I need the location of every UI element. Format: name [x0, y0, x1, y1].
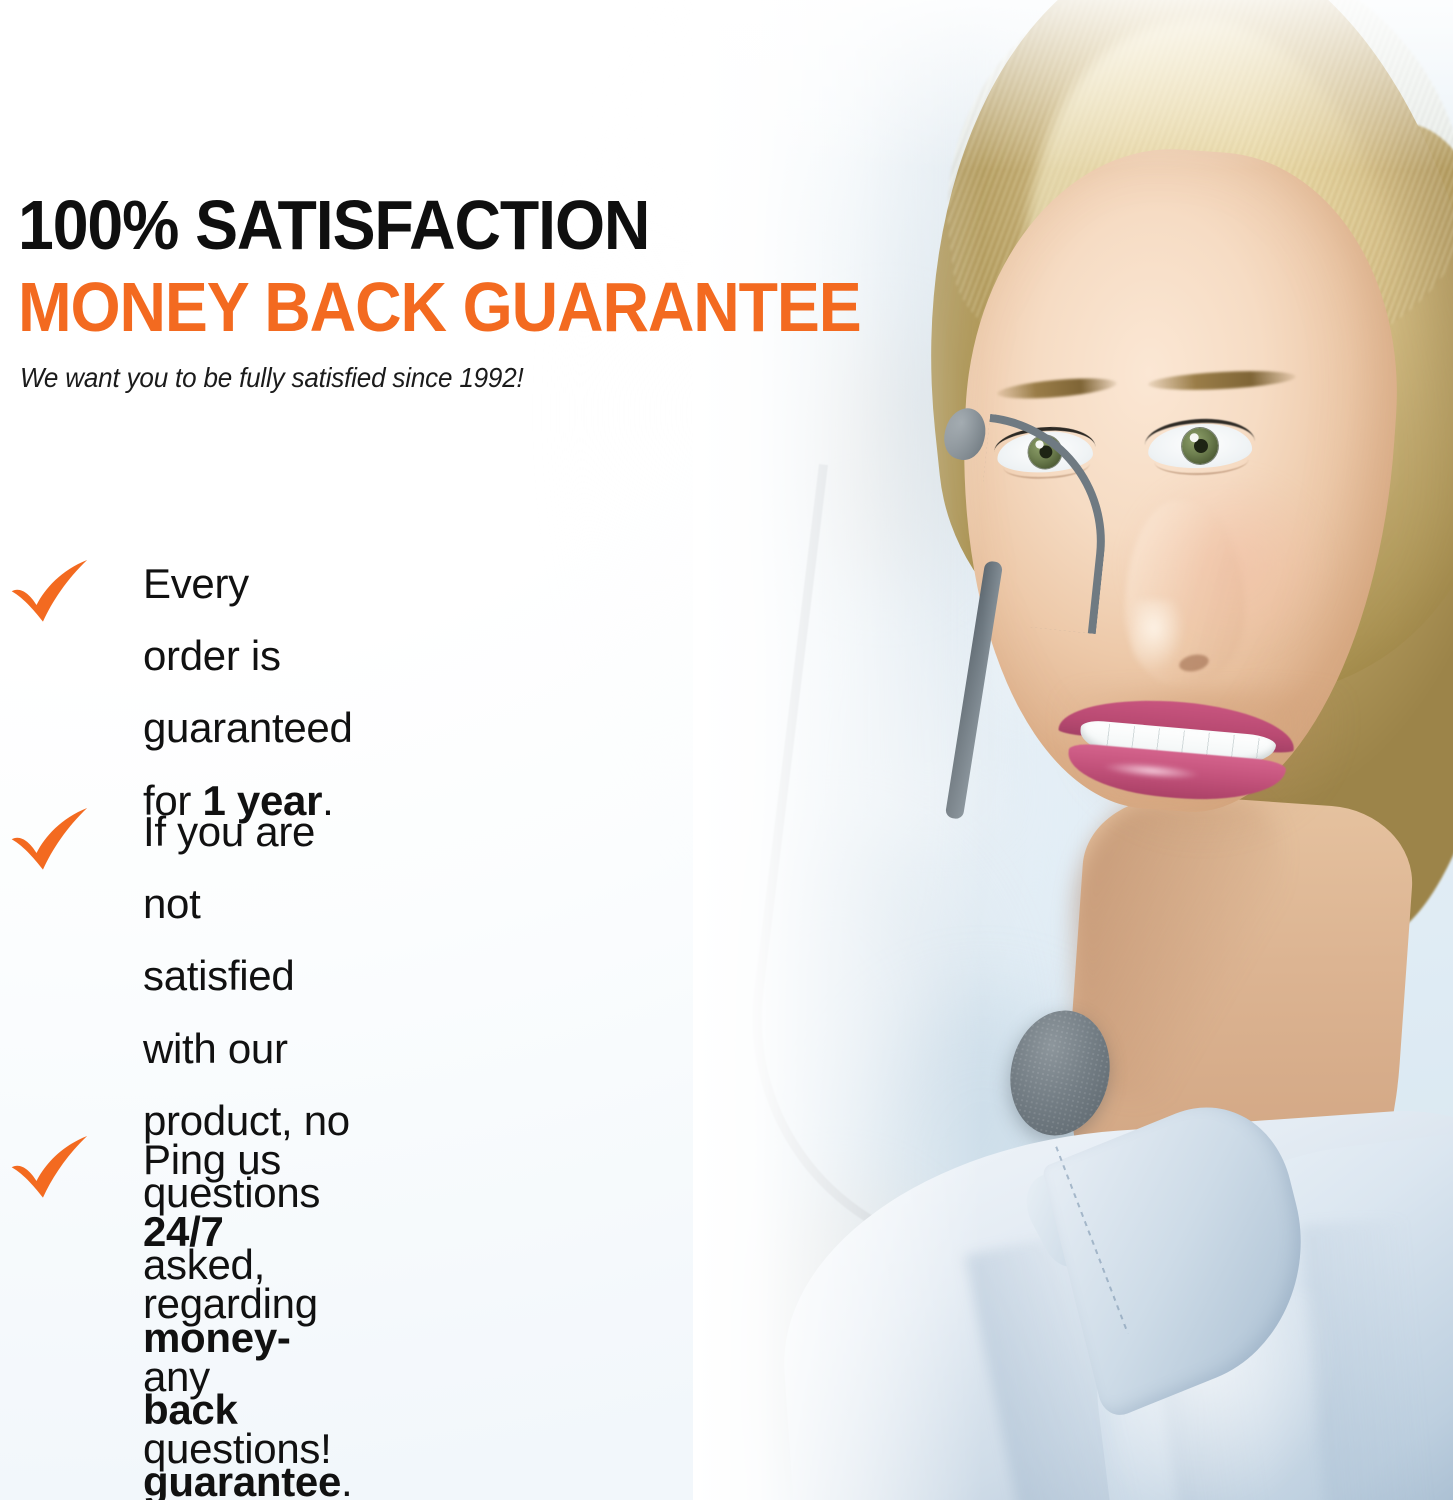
bullet2-line1: If you are not satisfied with our: [143, 808, 315, 1072]
bullet3-line2: any questions!: [143, 1353, 331, 1472]
list-item-text: Ping us 24/7 regardingany questions!: [143, 1124, 331, 1485]
tagline: We want you to be fully satisfied since …: [20, 362, 524, 394]
orange-checkmark-icon: [8, 548, 100, 640]
bullet3-line1-prefix: Ping us: [143, 1136, 281, 1183]
eye-right: [1147, 422, 1252, 470]
orange-checkmark-icon: [8, 796, 100, 888]
guarantee-banner: 100% SATISFACTION MONEY BACK GUARANTEE W…: [0, 0, 1453, 1500]
copy-block: 100% SATISFACTION MONEY BACK GUARANTEE W…: [0, 0, 1000, 1500]
bullet3-line1-suffix: regarding: [143, 1280, 318, 1327]
bullet3-line1-bold: 24/7: [143, 1208, 224, 1255]
nose-highlight: [1133, 600, 1185, 670]
bullet2-line3-suffix: .: [341, 1458, 352, 1500]
headline-secondary: MONEY BACK GUARANTEE: [18, 272, 861, 342]
bullet1-line1: Every order is guaranteed: [143, 560, 353, 751]
headline-primary: 100% SATISFACTION: [18, 190, 649, 260]
orange-checkmark-icon: [8, 1124, 100, 1216]
list-item-text: Every order is guaranteed for 1 year.: [143, 548, 353, 837]
